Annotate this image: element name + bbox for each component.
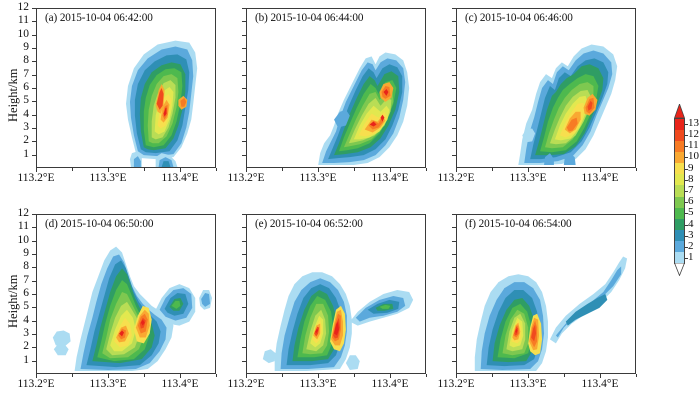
y-axis-tick-label: 10 (9, 234, 29, 246)
y-axis-tick-label: 1 (9, 354, 29, 366)
y-axis-tick (32, 101, 36, 102)
y-axis-title: Height/km (6, 69, 21, 122)
y-axis-tick (242, 334, 246, 335)
y-axis-tick (452, 141, 456, 142)
panel-e-title: (e) 2015-10-04 06:52:00 (255, 218, 363, 230)
y-axis-tick (452, 128, 456, 129)
x-axis-minor-tick (282, 168, 283, 171)
y-axis-tick-label: 12 (9, 1, 29, 13)
x-axis-minor-tick (354, 168, 355, 171)
colorbar-bottom-arrow-icon (674, 263, 685, 276)
y-axis-tick (32, 307, 36, 308)
x-axis-minor-tick (216, 374, 217, 377)
x-axis-tick-label: 113.4°E (574, 378, 626, 390)
x-axis-tick-label: 113.4°E (574, 172, 626, 184)
y-axis-tick (242, 294, 246, 295)
y-axis-tick (242, 307, 246, 308)
y-axis-tick (452, 241, 456, 242)
y-axis-tick (452, 21, 456, 22)
y-axis-tick (32, 267, 36, 268)
x-axis-minor-tick (564, 168, 565, 171)
colorbar-segment (675, 119, 684, 130)
x-axis-minor-tick (72, 168, 73, 171)
panel-b-title: (b) 2015-10-04 06:44:00 (255, 12, 363, 24)
x-axis-minor-tick (426, 374, 427, 377)
y-axis-tick-label: 11 (9, 220, 29, 232)
x-axis-tick-label: 113.4°E (364, 172, 416, 184)
y-axis-tick-label: 11 (9, 14, 29, 26)
colorbar[interactable] (674, 118, 685, 264)
y-axis-tick-label: 1 (9, 148, 29, 160)
y-axis-tick (32, 321, 36, 322)
x-axis-tick-label: 113.2°E (10, 172, 62, 184)
colorbar-top-arrow-icon (674, 104, 685, 119)
x-axis-minor-tick (564, 374, 565, 377)
panel-e-contours (247, 215, 425, 373)
y-axis-tick (32, 155, 36, 156)
y-axis-tick (452, 334, 456, 335)
y-axis-tick (452, 214, 456, 215)
y-axis-tick (32, 141, 36, 142)
y-axis-tick (32, 241, 36, 242)
x-axis-tick-label: 113.3°E (82, 172, 134, 184)
panel-d-title: (d) 2015-10-04 06:50:00 (45, 218, 153, 230)
x-axis-minor-tick (282, 374, 283, 377)
x-axis-tick-label: 113.2°E (430, 378, 482, 390)
x-axis-minor-tick (72, 374, 73, 377)
panel-c-title: (c) 2015-10-04 06:46:00 (465, 12, 573, 24)
x-axis-tick-label: 113.3°E (502, 172, 554, 184)
y-axis-tick (452, 115, 456, 116)
y-axis-tick (242, 241, 246, 242)
y-axis-tick (452, 321, 456, 322)
y-axis-tick-label: 9 (9, 247, 29, 259)
y-axis-tick-label: 10 (9, 28, 29, 40)
y-axis-tick (452, 281, 456, 282)
y-axis-tick (452, 75, 456, 76)
y-axis-tick (242, 21, 246, 22)
panel-f-title: (f) 2015-10-04 06:54:00 (465, 218, 571, 230)
panel-a-title: (a) 2015-10-04 06:42:00 (45, 12, 153, 24)
colorbar-label: 1 (688, 251, 694, 263)
y-axis-tick (242, 8, 246, 9)
panel-d: (d) 2015-10-04 06:50:00 (36, 214, 216, 374)
x-axis-tick-label: 113.2°E (430, 172, 482, 184)
x-axis-minor-tick (492, 168, 493, 171)
y-axis-tick (32, 75, 36, 76)
colorbar-segment (675, 230, 684, 241)
y-axis-tick (242, 115, 246, 116)
panel-c: (c) 2015-10-04 06:46:00 (456, 8, 636, 168)
y-axis-tick-label: 3 (9, 327, 29, 339)
colorbar-segment (675, 241, 684, 252)
y-axis-tick (452, 8, 456, 9)
x-axis-minor-tick (636, 168, 637, 171)
y-axis-tick (32, 21, 36, 22)
y-axis-tick (32, 214, 36, 215)
x-axis-minor-tick (492, 374, 493, 377)
y-axis-tick (452, 88, 456, 89)
figure-canvas: (a) 2015-10-04 06:42:00 (0, 0, 700, 407)
y-axis-tick (242, 321, 246, 322)
y-axis-tick (242, 361, 246, 362)
y-axis-tick (242, 254, 246, 255)
panel-a: (a) 2015-10-04 06:42:00 (36, 8, 216, 168)
y-axis-tick-label: 8 (9, 54, 29, 66)
x-axis-tick-label: 113.3°E (502, 378, 554, 390)
colorbar-label: 10 (688, 150, 699, 162)
y-axis-tick (452, 361, 456, 362)
panel-f-frame (456, 214, 636, 374)
panel-a-contours (37, 9, 215, 167)
y-axis-tick (32, 254, 36, 255)
y-axis-tick (32, 347, 36, 348)
y-axis-tick (452, 254, 456, 255)
colorbar-segment (675, 152, 684, 163)
x-axis-minor-tick (144, 168, 145, 171)
x-axis-minor-tick (426, 168, 427, 171)
x-axis-minor-tick (636, 374, 637, 377)
panel-f-contours (457, 215, 635, 373)
y-axis-tick (452, 155, 456, 156)
y-axis-tick (242, 75, 246, 76)
colorbar-segment (675, 174, 684, 185)
y-axis-tick (452, 227, 456, 228)
y-axis-tick (452, 101, 456, 102)
y-axis-tick (452, 35, 456, 36)
panel-b-contours (247, 9, 425, 167)
x-axis-tick-label: 113.2°E (10, 378, 62, 390)
x-axis-tick-label: 113.4°E (154, 172, 206, 184)
y-axis-tick (242, 141, 246, 142)
y-axis-tick (452, 347, 456, 348)
y-axis-tick (452, 294, 456, 295)
y-axis-tick (32, 88, 36, 89)
x-axis-tick-label: 113.2°E (220, 172, 272, 184)
colorbar-segment (675, 208, 684, 219)
y-axis-tick (242, 227, 246, 228)
y-axis-tick (32, 361, 36, 362)
panel-b-frame (246, 8, 426, 168)
colorbar-segment (675, 185, 684, 196)
y-axis-tick (242, 48, 246, 49)
colorbar-label: 5 (688, 206, 694, 218)
panel-b: (b) 2015-10-04 06:44:00 (246, 8, 426, 168)
y-axis-tick (32, 281, 36, 282)
y-axis-tick (242, 155, 246, 156)
x-axis-minor-tick (216, 168, 217, 171)
colorbar-segment (675, 219, 684, 230)
y-axis-tick-label: 2 (9, 134, 29, 146)
panel-d-frame (36, 214, 216, 374)
y-axis-tick (242, 128, 246, 129)
panel-c-frame (456, 8, 636, 168)
y-axis-tick (242, 214, 246, 215)
colorbar-segment (675, 130, 684, 141)
y-axis-tick (32, 48, 36, 49)
y-axis-tick (452, 48, 456, 49)
y-axis-tick (242, 267, 246, 268)
y-axis-tick (452, 307, 456, 308)
y-axis-tick (32, 227, 36, 228)
x-axis-tick-label: 113.2°E (220, 378, 272, 390)
x-axis-tick-label: 113.4°E (364, 378, 416, 390)
y-axis-tick (32, 61, 36, 62)
x-axis-tick-label: 113.3°E (292, 172, 344, 184)
panel-a-frame (36, 8, 216, 168)
y-axis-tick-label: 3 (9, 121, 29, 133)
y-axis-tick (242, 281, 246, 282)
y-axis-tick (242, 35, 246, 36)
panel-f: (f) 2015-10-04 06:54:00 (456, 214, 636, 374)
y-axis-tick (452, 267, 456, 268)
y-axis-tick (32, 294, 36, 295)
y-axis-tick (242, 88, 246, 89)
y-axis-title: Height/km (6, 275, 21, 328)
panel-d-contours (37, 215, 215, 373)
colorbar-segment (675, 141, 684, 152)
y-axis-tick-label: 2 (9, 340, 29, 352)
y-axis-tick (452, 61, 456, 62)
y-axis-tick (32, 334, 36, 335)
y-axis-tick (242, 101, 246, 102)
y-axis-tick-label: 8 (9, 260, 29, 272)
x-axis-tick-label: 113.4°E (154, 378, 206, 390)
y-axis-tick (242, 61, 246, 62)
y-axis-tick (32, 35, 36, 36)
x-axis-minor-tick (144, 374, 145, 377)
x-axis-tick-label: 113.3°E (292, 378, 344, 390)
y-axis-tick (242, 347, 246, 348)
colorbar-segment (675, 197, 684, 208)
x-axis-minor-tick (354, 374, 355, 377)
y-axis-tick-label: 9 (9, 41, 29, 53)
x-axis-tick-label: 113.3°E (82, 378, 134, 390)
y-axis-tick (32, 8, 36, 9)
colorbar-segment (675, 163, 684, 174)
y-axis-tick-label: 12 (9, 207, 29, 219)
y-axis-tick (32, 115, 36, 116)
panel-c-contours (457, 9, 635, 167)
y-axis-tick (32, 128, 36, 129)
panel-e: (e) 2015-10-04 06:52:00 (246, 214, 426, 374)
colorbar-segment (675, 252, 684, 263)
panel-e-frame (246, 214, 426, 374)
